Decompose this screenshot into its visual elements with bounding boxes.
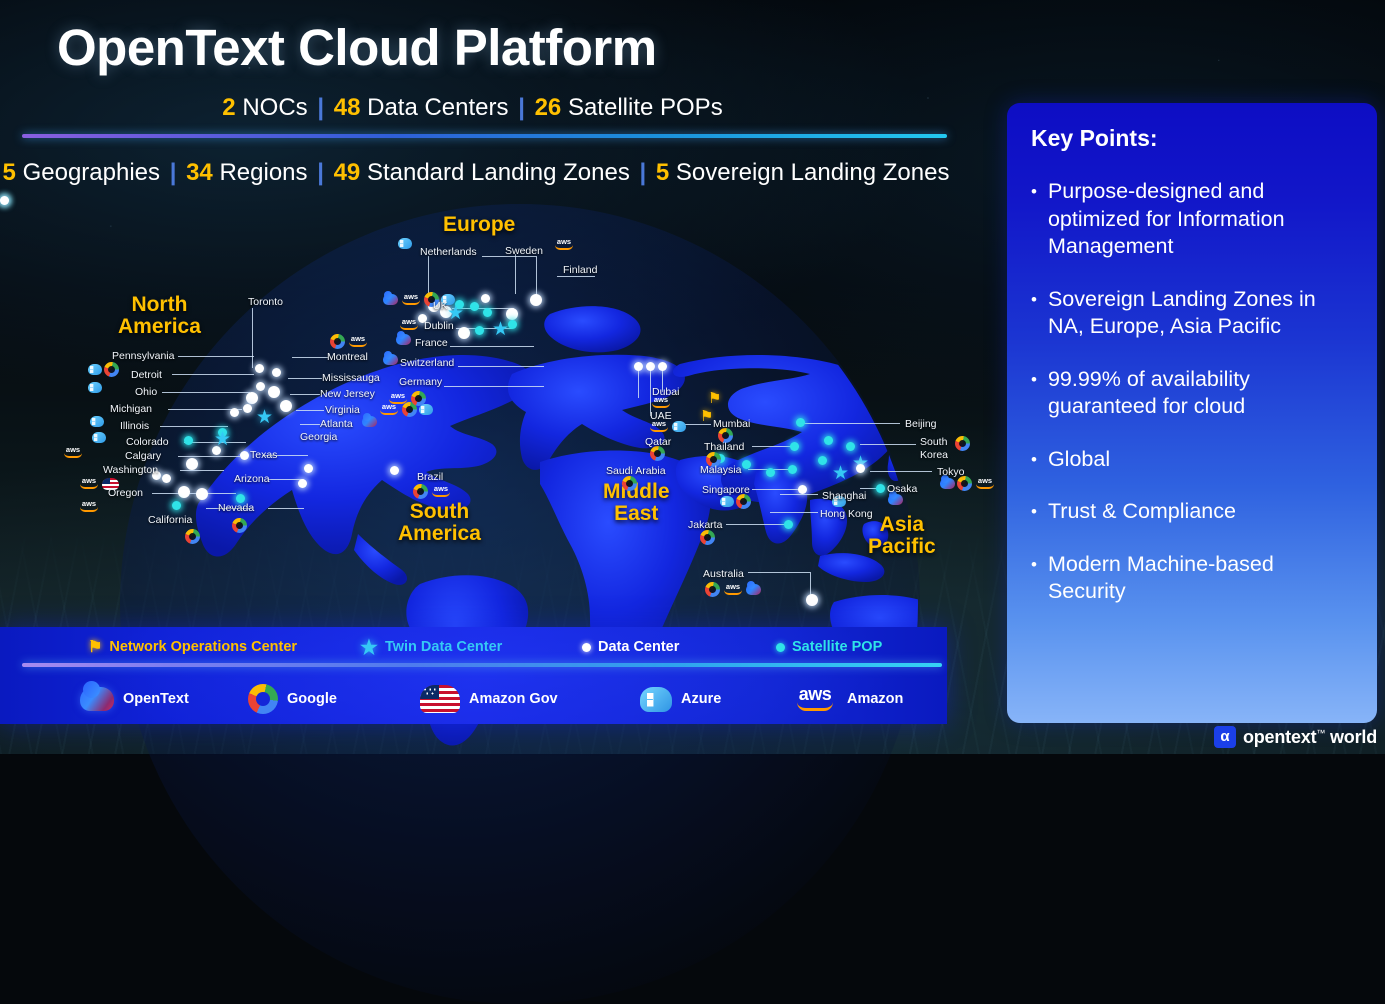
city-label: Detroit (131, 369, 162, 381)
city-label: Oregon (108, 487, 143, 499)
city-label: Switzerland (400, 357, 454, 369)
opentext-cloud-icon (383, 354, 398, 365)
marker-satellite-pop (876, 484, 885, 493)
stats-line-secondary: 5 Geographies | 34 Regions | 49 Standard… (0, 159, 952, 187)
city-label: Illinois (120, 420, 149, 432)
key-point-item: •Modern Machine-based Security (1031, 551, 1353, 606)
marker-data-center (390, 466, 399, 475)
aws-icon: aws (62, 446, 84, 459)
city-label: California (148, 514, 192, 526)
stat-separator: | (314, 159, 327, 186)
badge-group (650, 446, 665, 461)
key-point-item: •99.99% of availability guaranteed for c… (1031, 366, 1353, 421)
page-title: OpenText Cloud Platform (57, 18, 657, 77)
bullet-icon: • (1031, 366, 1037, 421)
badge-group (383, 354, 398, 365)
azure-cloud-icon (88, 364, 102, 375)
region-label-europe: Europe (443, 214, 515, 236)
marker-twin-data-center: ★ (492, 324, 509, 336)
marker-data-center (230, 408, 239, 417)
city-label: Virginia (325, 404, 360, 416)
vendor-item-amazon: awsAmazon (792, 685, 903, 713)
key-point-item: •Purpose-designed and optimized for Info… (1031, 178, 1353, 261)
city-label: Atlanta (320, 418, 353, 430)
city-label: Michigan (110, 403, 152, 415)
city-label: Singapore (702, 484, 750, 496)
city-label: Dublin (424, 320, 454, 332)
marker-data-center (798, 485, 807, 494)
marker-satellite-pop (790, 442, 799, 451)
vendor-item-google: Google (248, 684, 337, 714)
trademark-mark: ™ (1316, 728, 1325, 738)
city-label: Australia (703, 568, 744, 580)
marker-data-center (240, 451, 249, 460)
city-label: Malaysia (700, 464, 741, 476)
azure-cloud-icon (90, 416, 104, 427)
aws-icon: aws (78, 500, 100, 513)
marker-satellite-pop (824, 436, 833, 445)
legend-label: Data Center (598, 639, 679, 655)
badge-group (396, 334, 411, 345)
marker-satellite-pop (483, 308, 492, 317)
marker-data-center (268, 386, 280, 398)
city-label: UK (433, 300, 448, 312)
marker-data-center (856, 464, 865, 473)
aws-icon: aws (430, 485, 452, 498)
city-label: Finland (563, 264, 597, 276)
marker-data-center (298, 479, 307, 488)
city-label: Hong Kong (820, 508, 873, 520)
google-cloud-icon (736, 494, 751, 509)
marker-satellite-pop (766, 468, 775, 477)
badge-group (622, 476, 637, 491)
stat-label: Regions (219, 159, 307, 186)
legend-markers-row: ⚑Network Operations Center★Twin Data Cen… (0, 631, 947, 663)
badge-group: aws (553, 238, 575, 251)
opentext-cloud-icon (383, 294, 398, 305)
google-cloud-icon (232, 518, 247, 533)
google-cloud-icon (411, 391, 426, 406)
legend-label: Twin Data Center (385, 639, 502, 655)
google-cloud-icon (185, 529, 200, 544)
opentext-alpha-mark: α (1214, 726, 1236, 748)
key-points-panel: Key Points: •Purpose-designed and optimi… (1007, 103, 1377, 723)
vendor-item-azure: Azure (640, 687, 721, 712)
marker-data-center (246, 392, 258, 404)
aws-icon: aws (347, 335, 369, 348)
key-point-item: •Trust & Compliance (1031, 498, 1353, 526)
azure-cloud-icon (398, 238, 412, 249)
opentext-world-logo: α opentext™ world (1214, 724, 1377, 750)
key-points-list: •Purpose-designed and optimized for Info… (1031, 178, 1353, 606)
city-label: Montreal (327, 351, 368, 363)
amazon-gov-cloud-icon (420, 685, 460, 713)
stat-number: 5 (3, 159, 16, 186)
badge-group (88, 362, 119, 377)
aws-icon: aws (387, 392, 409, 405)
badge-group: aws (330, 334, 369, 349)
city-label: Nevada (218, 502, 254, 514)
marker-data-center (506, 308, 518, 320)
city-label: New Jersey (320, 388, 375, 400)
marker-data-center (658, 362, 667, 371)
marker-data-center (646, 362, 655, 371)
aws-icon: aws (553, 238, 575, 251)
legend-item-satellite-pop: Satellite POP (776, 639, 882, 655)
aws-icon: aws (398, 318, 420, 331)
google-cloud-icon (957, 476, 972, 491)
badge-group (88, 382, 102, 393)
city-label: Ohio (135, 386, 157, 398)
city-label: Toronto (248, 296, 283, 308)
stat-label: Standard Landing Zones (367, 159, 630, 186)
marker-satellite-pop (742, 460, 751, 469)
marker-network-operations-center: ⚑ (708, 394, 721, 404)
world-map: NorthAmericaEuropeSouthAmericaMiddleEast… (0, 196, 990, 636)
stat-label: Data Centers (367, 94, 508, 121)
city-label: Mumbai (713, 418, 750, 430)
city-label: Texas (250, 449, 277, 461)
city-label: France (415, 337, 448, 349)
flag-icon: ⚑ (88, 637, 102, 657)
key-point-text: 99.99% of availability guaranteed for cl… (1048, 366, 1353, 421)
marker-twin-data-center: ★ (447, 308, 464, 320)
city-label: Thailand (704, 441, 744, 453)
badge-group (362, 416, 377, 427)
marker-data-center (530, 294, 542, 306)
city-label: Washington (103, 464, 158, 476)
marker-satellite-pop (846, 442, 855, 451)
marker-satellite-pop (508, 320, 517, 329)
vendor-label: Amazon (847, 691, 903, 707)
stat-label: Sovereign Landing Zones (676, 159, 950, 186)
stat-label: Satellite POPs (568, 94, 723, 121)
badge-group (398, 238, 412, 249)
star-icon: ★ (360, 635, 378, 660)
bullet-icon: • (1031, 446, 1037, 474)
stat-separator: | (515, 94, 528, 121)
stat-separator: | (314, 94, 327, 121)
city-label: Saudi Arabia (606, 465, 666, 477)
slide-canvas: OpenText Cloud Platform 2 NOCs | 48 Data… (0, 0, 1385, 754)
legend-label: Satellite POP (792, 639, 882, 655)
key-point-text: Sovereign Landing Zones in NA, Europe, A… (1048, 286, 1353, 341)
google-cloud-icon (705, 582, 720, 597)
badge-group (185, 529, 200, 544)
google-cloud-icon (104, 362, 119, 377)
vendor-item-opentext: OpenText (80, 687, 189, 711)
city-label: Mississauga (322, 372, 380, 384)
city-label: Tokyo (937, 466, 964, 478)
marker-twin-data-center: ★ (832, 468, 849, 480)
badge-group: aws (78, 500, 100, 513)
city-label: Jakarta (688, 519, 722, 531)
stats-line-primary: 2 NOCs | 48 Data Centers | 26 Satellite … (0, 94, 945, 122)
vendor-label: Amazon Gov (469, 691, 558, 707)
badge-group: aws (940, 476, 996, 491)
vendor-item-amazon-gov: Amazon Gov (420, 685, 558, 713)
stat-number: 26 (535, 94, 562, 121)
city-label: Calgary (125, 450, 161, 462)
legend-item-data-center: Data Center (582, 639, 679, 655)
marker-data-center (186, 458, 198, 470)
marker-satellite-pop (470, 302, 479, 311)
azure-cloud-icon (720, 496, 734, 507)
stat-number: 34 (186, 159, 213, 186)
marker-data-center (304, 464, 313, 473)
legend-divider (22, 663, 942, 667)
marker-satellite-pop (184, 436, 193, 445)
marker-data-center (634, 362, 643, 371)
city-label: Korea (920, 449, 948, 461)
aws-icon: aws (400, 293, 422, 306)
marker-satellite-pop (172, 501, 181, 510)
marker-data-center (243, 404, 252, 413)
google-cloud-icon (413, 484, 428, 499)
opentext-cloud-icon (80, 687, 114, 711)
legend-label: Network Operations Center (109, 639, 297, 655)
marker-satellite-pop (475, 326, 484, 335)
marker-satellite-pop (796, 418, 805, 427)
city-label: Brazil (417, 471, 443, 483)
stat-separator: | (637, 159, 650, 186)
key-points-title: Key Points: (1031, 125, 1353, 152)
opentext-world-wordmark: opentext™ world (1243, 727, 1377, 748)
city-label: Osaka (887, 483, 917, 495)
city-label: UAE (650, 410, 672, 422)
opentext-cloud-icon (396, 334, 411, 345)
azure-cloud-icon (88, 382, 102, 393)
marker-data-center (458, 327, 470, 339)
vendor-label: OpenText (123, 691, 189, 707)
city-label: Qatar (645, 436, 671, 448)
stat-label: NOCs (242, 94, 307, 121)
google-cloud-icon (330, 334, 345, 349)
aws-icon: aws (792, 685, 838, 713)
city-label: Germany (399, 376, 442, 388)
badge-group: aws (413, 484, 452, 499)
city-label: Beijing (905, 418, 937, 430)
marker-data-center (162, 474, 171, 483)
key-point-text: Purpose-designed and optimized for Infor… (1048, 178, 1353, 261)
stat-number: 2 (222, 94, 235, 121)
key-point-text: Trust & Compliance (1048, 498, 1236, 526)
city-label: Dubai (652, 386, 679, 398)
stat-number: 49 (334, 159, 361, 186)
marker-twin-data-center: ★ (256, 412, 273, 424)
city-label: Arizona (234, 473, 270, 485)
badge-group: aws (62, 446, 84, 459)
badge-group (232, 518, 247, 533)
marker-data-center (0, 196, 9, 205)
aws-icon: aws (974, 477, 996, 490)
opentext-cloud-icon (746, 584, 761, 595)
badge-group (90, 416, 104, 427)
key-point-text: Modern Machine-based Security (1048, 551, 1353, 606)
bullet-icon: • (1031, 178, 1037, 261)
globe-landmasses (120, 204, 920, 1004)
badge-group (720, 494, 751, 509)
opentext-cloud-icon (940, 478, 955, 489)
marker-data-center (196, 488, 208, 500)
marker-data-center (481, 294, 490, 303)
azure-cloud-icon (672, 421, 686, 432)
legend-item-network-operations-center: ⚑Network Operations Center (88, 637, 297, 657)
city-label: Sweden (505, 245, 543, 257)
legend-vendors-row: OpenTextGoogleAmazon GovAzureawsAmazon (0, 676, 947, 722)
region-label-asia-pacific: AsiaPacific (868, 514, 936, 558)
azure-cloud-icon (640, 687, 672, 712)
badge-group (955, 436, 970, 451)
opentext-cloud-icon (362, 416, 377, 427)
marker-network-operations-center: ⚑ (700, 412, 713, 422)
aws-icon: aws (722, 583, 744, 596)
badge-group: aws (387, 391, 426, 406)
globe (120, 204, 920, 1004)
vendor-label: Google (287, 691, 337, 707)
circle-icon (776, 643, 785, 652)
aws-icon: aws (78, 477, 100, 490)
marker-data-center (806, 594, 818, 606)
key-point-item: •Sovereign Landing Zones in NA, Europe, … (1031, 286, 1353, 341)
marker-satellite-pop (818, 456, 827, 465)
key-point-text: Global (1048, 446, 1110, 474)
bullet-icon: • (1031, 286, 1037, 341)
google-cloud-icon (248, 684, 278, 714)
stat-number: 48 (334, 94, 361, 121)
badge-group (92, 432, 106, 443)
header-divider (22, 134, 947, 138)
google-cloud-icon (955, 436, 970, 451)
city-label: Pennsylvania (112, 350, 174, 362)
marker-data-center (255, 364, 264, 373)
key-point-item: •Global (1031, 446, 1353, 474)
badge-group: aws (705, 582, 761, 597)
marker-data-center (280, 400, 292, 412)
badge-group (888, 494, 903, 505)
stat-separator: | (167, 159, 180, 186)
marker-satellite-pop (788, 465, 797, 474)
city-label: South (920, 436, 947, 448)
legend-item-twin-data-center: ★Twin Data Center (360, 635, 502, 660)
city-label: Colorado (126, 436, 169, 448)
circle-icon (582, 643, 591, 652)
city-label: Georgia (300, 431, 337, 443)
vendor-label: Azure (681, 691, 721, 707)
azure-cloud-icon (92, 432, 106, 443)
city-label: Netherlands (420, 246, 477, 258)
google-cloud-icon (622, 476, 637, 491)
google-cloud-icon (650, 446, 665, 461)
marker-data-center (256, 382, 265, 391)
region-label-south-america: SouthAmerica (398, 501, 481, 545)
badge-group: aws (398, 318, 420, 331)
marker-satellite-pop (784, 520, 793, 529)
region-label-north-america: NorthAmerica (118, 294, 201, 338)
marker-data-center (272, 368, 281, 377)
badge-group (700, 530, 715, 545)
marker-data-center (178, 486, 190, 498)
bullet-icon: • (1031, 551, 1037, 606)
bullet-icon: • (1031, 498, 1037, 526)
stat-number: 5 (656, 159, 669, 186)
google-cloud-icon (700, 530, 715, 545)
city-label: Shanghai (822, 490, 866, 502)
stat-label: Geographies (23, 159, 160, 186)
opentext-cloud-icon (888, 494, 903, 505)
marker-twin-data-center: ★ (214, 434, 231, 446)
